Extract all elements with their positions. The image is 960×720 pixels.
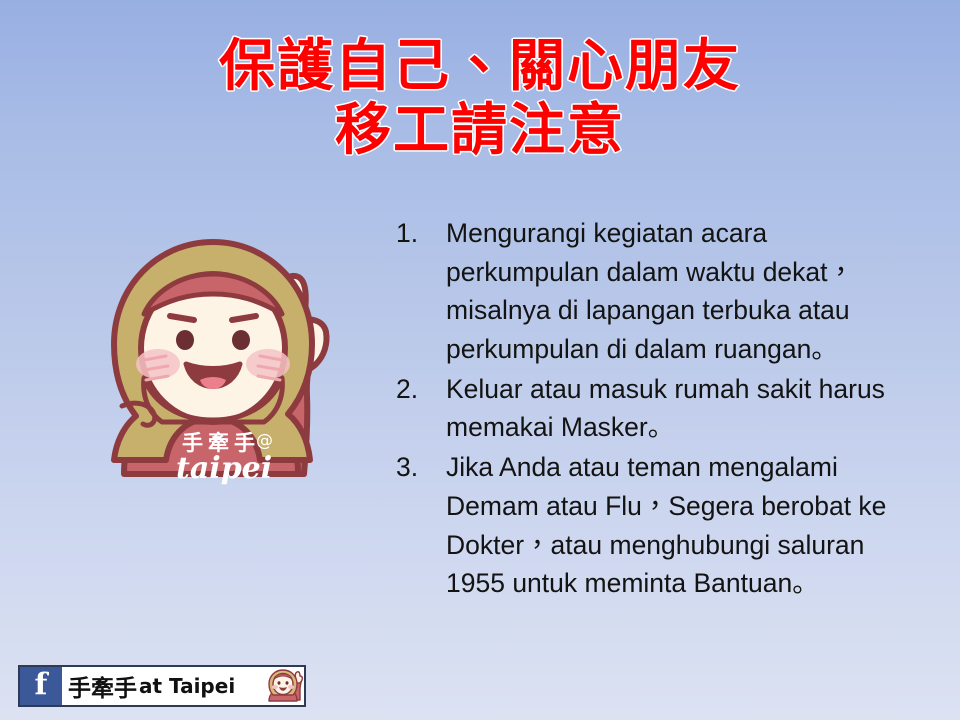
page-title: 保護自己、關心朋友 移工請注意: [0, 38, 960, 160]
list-item-text: Mengurangi kegiatan acara perkumpulan da…: [446, 214, 920, 369]
list-item-number: 2.: [396, 370, 436, 409]
facebook-f-glyph: f: [20, 670, 62, 700]
facebook-page-badge[interactable]: f 手牽手 at Taipei: [18, 665, 306, 707]
instruction-list: 1. Mengurangi kegiatan acara perkumpulan…: [392, 214, 920, 604]
list-item: 2. Keluar atau masuk rumah sakit harus m…: [392, 370, 920, 447]
list-item-text: Keluar atau masuk rumah sakit harus mema…: [446, 370, 920, 447]
list-item-number: 3.: [396, 448, 436, 487]
facebook-badge-label-cjk: 手牽手: [68, 669, 137, 703]
svg-text:taipei: taipei: [176, 451, 272, 486]
hijab-woman-mini-icon: [264, 667, 304, 705]
list-item-number: 1.: [396, 214, 436, 253]
slide-canvas: 保護自己、關心朋友 移工請注意: [0, 0, 960, 720]
list-item: 3. Jika Anda atau teman mengalami Demam …: [392, 448, 920, 603]
facebook-icon[interactable]: f: [20, 667, 62, 705]
list-item-text: Jika Anda atau teman mengalami Demam ata…: [446, 448, 920, 603]
title-line-2: 移工請注意: [0, 102, 960, 160]
facebook-badge-label: 手牽手 at Taipei: [62, 667, 264, 705]
title-line-1: 保護自己、關心朋友: [0, 38, 960, 96]
list-item: 1. Mengurangi kegiatan acara perkumpulan…: [392, 214, 920, 369]
facebook-badge-label-latin: at Taipei: [137, 674, 235, 698]
svg-text:@: @: [256, 431, 273, 451]
hijab-woman-pointing-icon: 手牽手 @ taipei: [58, 228, 368, 530]
